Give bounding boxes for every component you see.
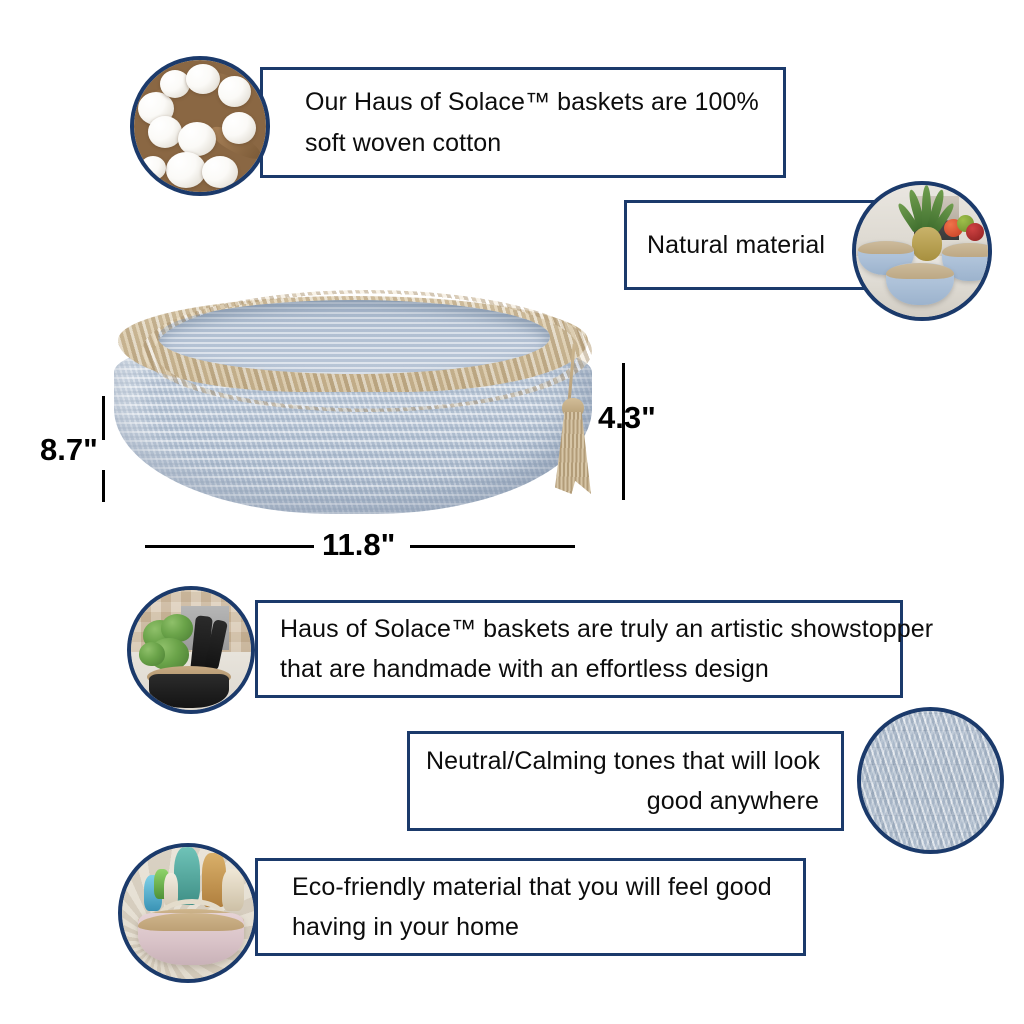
cotton-bolls-photo (130, 56, 270, 196)
dim-label-width: 11.8" (322, 527, 395, 563)
callout-cotton-line-2: soft woven cotton (305, 123, 783, 164)
callout-showstopper-line-2: that are handmade with an effortless des… (280, 649, 900, 690)
dim-line-height-lower (102, 470, 105, 502)
callout-eco-line-1: Eco-friendly material that you will feel… (292, 867, 803, 908)
callout-neutral-line-1: Neutral/Calming tones that will look (426, 741, 841, 782)
dim-label-depth: 4.3" (598, 400, 656, 436)
black-basket-plant-photo (127, 586, 255, 714)
callout-box-eco-friendly: Eco-friendly material that you will feel… (255, 858, 806, 956)
callout-box-cotton: Our Haus of Solace™ baskets are 100% sof… (260, 67, 786, 178)
dim-line-width-right (410, 545, 575, 548)
pink-basket-toys-photo (118, 843, 258, 983)
dim-line-width-left (145, 545, 314, 548)
callout-cotton-line-1: Our Haus of Solace™ baskets are 100% (305, 82, 783, 123)
dim-label-height: 8.7" (40, 432, 98, 468)
callout-box-neutral-tones: Neutral/Calming tones that will look goo… (407, 731, 844, 831)
callout-showstopper-line-1: Haus of Solace™ baskets are truly an art… (280, 609, 900, 650)
rope-texture-photo (857, 707, 1004, 854)
callout-eco-line-2: having in your home (292, 907, 803, 948)
main-product-basket (112, 288, 594, 516)
callout-neutral-line-2: good anywhere (426, 781, 841, 822)
infographic-page: Our Haus of Solace™ baskets are 100% sof… (0, 0, 1024, 1024)
callout-box-showstopper: Haus of Solace™ baskets are truly an art… (255, 600, 903, 698)
dim-line-height-upper (102, 396, 105, 440)
baskets-on-counter-photo (852, 181, 992, 321)
